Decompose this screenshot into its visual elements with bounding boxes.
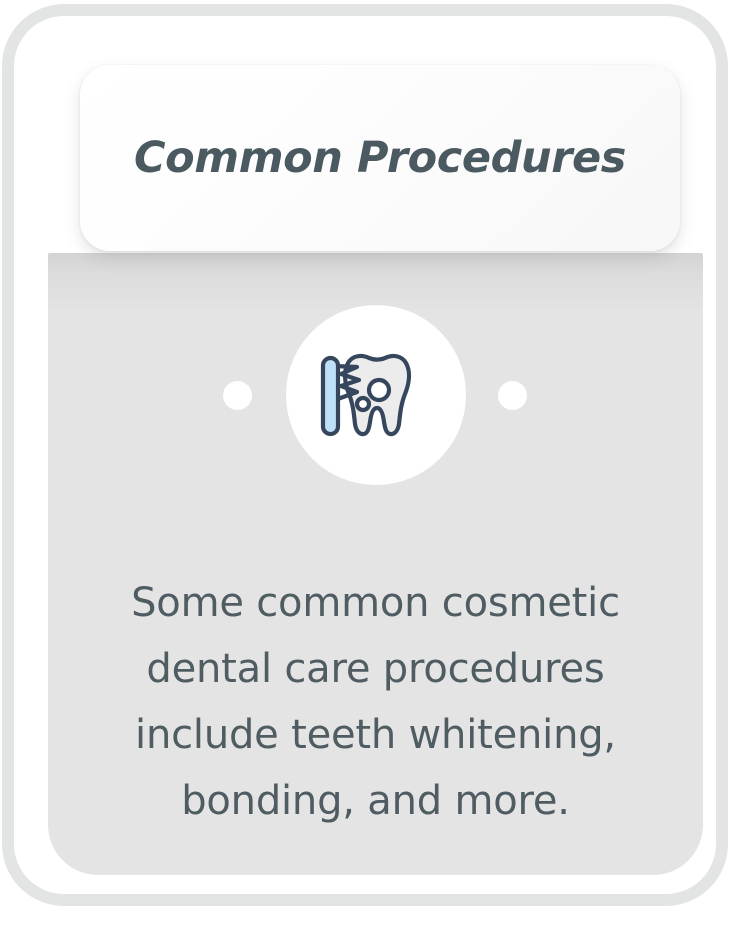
tooth-brushing-icon [317,336,435,454]
icon-circle-badge [286,305,466,485]
page-title: Common Procedures [134,133,626,183]
panel-top-shadow [48,253,703,313]
card-header[interactable]: Common Procedures [80,65,680,251]
icon-row [48,305,703,485]
decorative-dot-right-icon [498,381,527,410]
card-body-text: Some common cosmetic dental care procedu… [78,570,673,834]
procedure-card-widget: Common Procedures Some common cosmetic d… [0,0,749,930]
decorative-dot-left-icon [223,381,252,410]
